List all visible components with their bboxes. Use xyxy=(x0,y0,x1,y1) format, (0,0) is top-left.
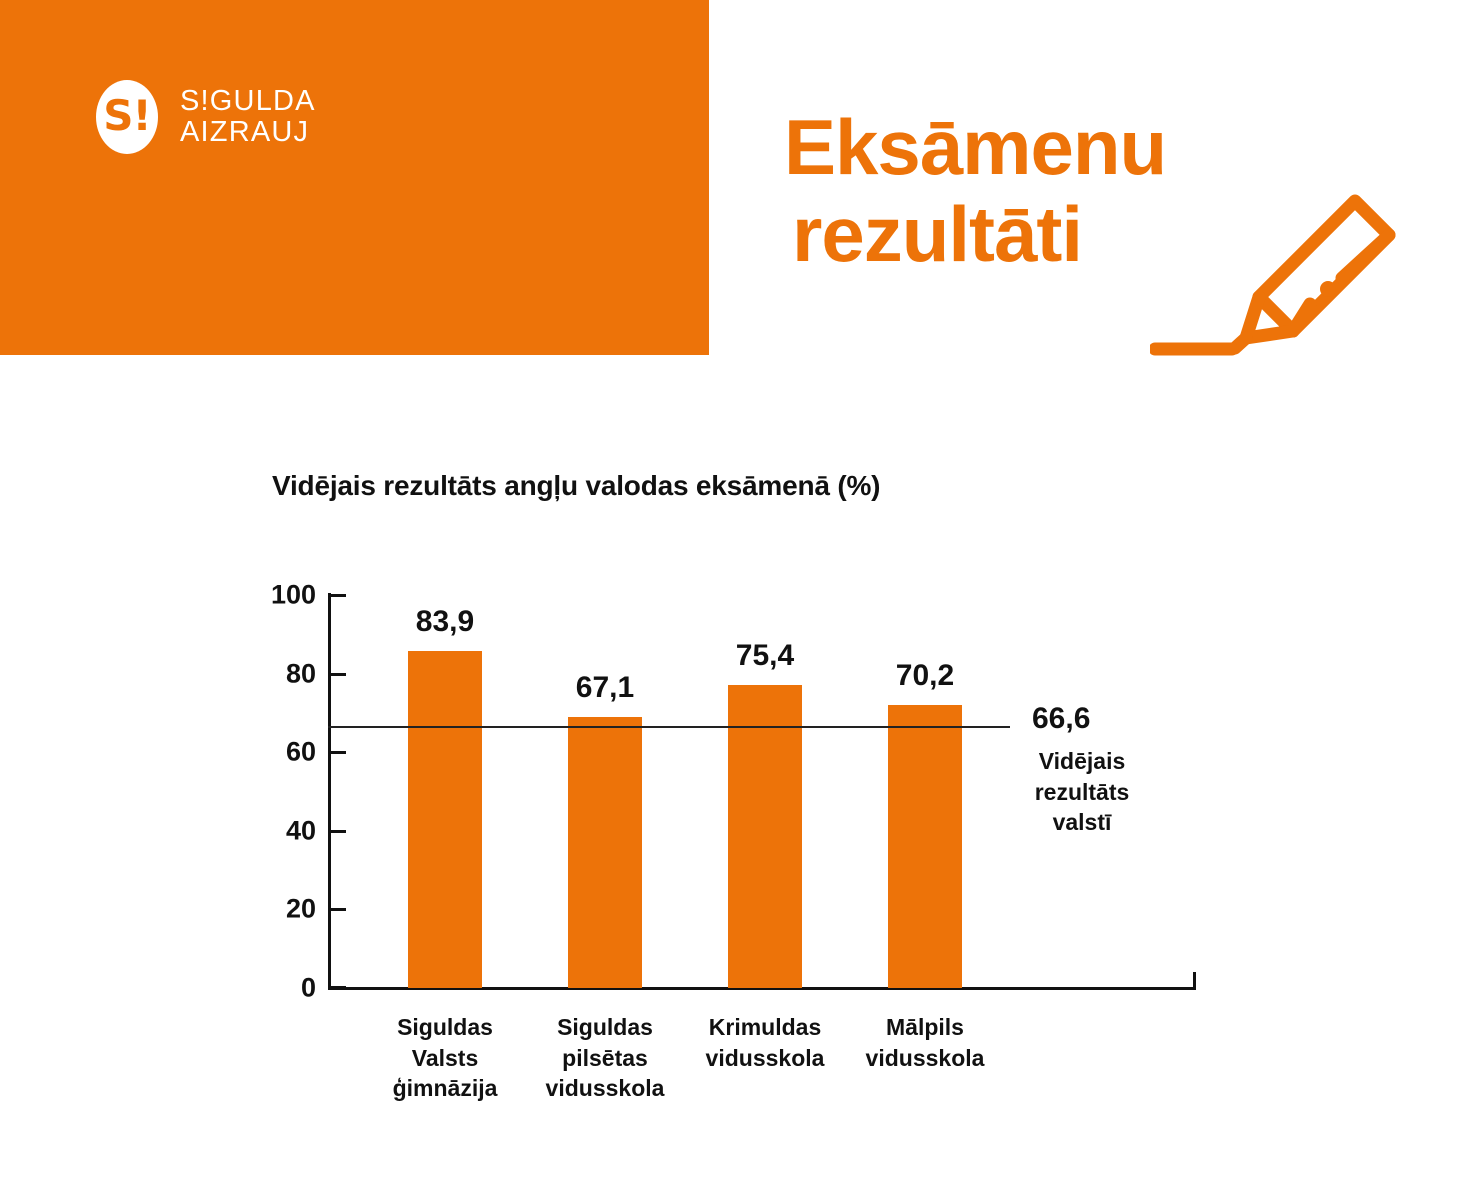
y-tick-60 xyxy=(331,751,346,754)
bar-value-1: 67,1 xyxy=(576,671,634,705)
bar-value-0: 83,9 xyxy=(416,605,474,639)
bar-value-3: 70,2 xyxy=(896,659,954,693)
y-tick-label-60: 60 xyxy=(286,737,316,768)
category-label-1: Siguldas pilsētas vidusskola xyxy=(546,1012,665,1104)
category-label-2: Krimuldas vidusskola xyxy=(706,1012,825,1073)
y-axis-line xyxy=(328,593,331,990)
bar-chart-plot: 100 80 60 40 20 0 83,9 67,1 75,4 70,2 Si… xyxy=(0,0,1458,1200)
y-tick-label-20: 20 xyxy=(286,894,316,925)
y-tick-label-100: 100 xyxy=(271,580,316,611)
y-tick-80 xyxy=(331,673,346,676)
y-tick-0 xyxy=(331,986,346,989)
bar-krimuldas-vidusskola xyxy=(728,685,802,988)
y-tick-40 xyxy=(331,830,346,833)
y-tick-label-40: 40 xyxy=(286,816,316,847)
bar-siguldas-valsts-gimnazija xyxy=(408,651,482,988)
bar-malpils-vidusskola xyxy=(888,705,962,988)
y-tick-20 xyxy=(331,908,346,911)
bar-value-2: 75,4 xyxy=(736,639,794,673)
y-tick-label-0: 0 xyxy=(301,973,316,1004)
reference-line xyxy=(328,726,1010,728)
reference-line-caption: Vidējais rezultāts valstī xyxy=(1008,746,1156,838)
y-tick-100 xyxy=(331,594,346,597)
bar-siguldas-pilsetas-vidusskola xyxy=(568,717,642,988)
category-label-3: Mālpils vidusskola xyxy=(866,1012,985,1073)
category-label-0: Siguldas Valsts ģimnāzija xyxy=(393,1012,498,1104)
chart-block: Vidējais rezultāts angļu valodas eksāmen… xyxy=(0,0,1458,1200)
reference-line-value: 66,6 xyxy=(1032,702,1090,736)
x-axis-end-tick xyxy=(1193,972,1196,990)
y-tick-label-80: 80 xyxy=(286,659,316,690)
